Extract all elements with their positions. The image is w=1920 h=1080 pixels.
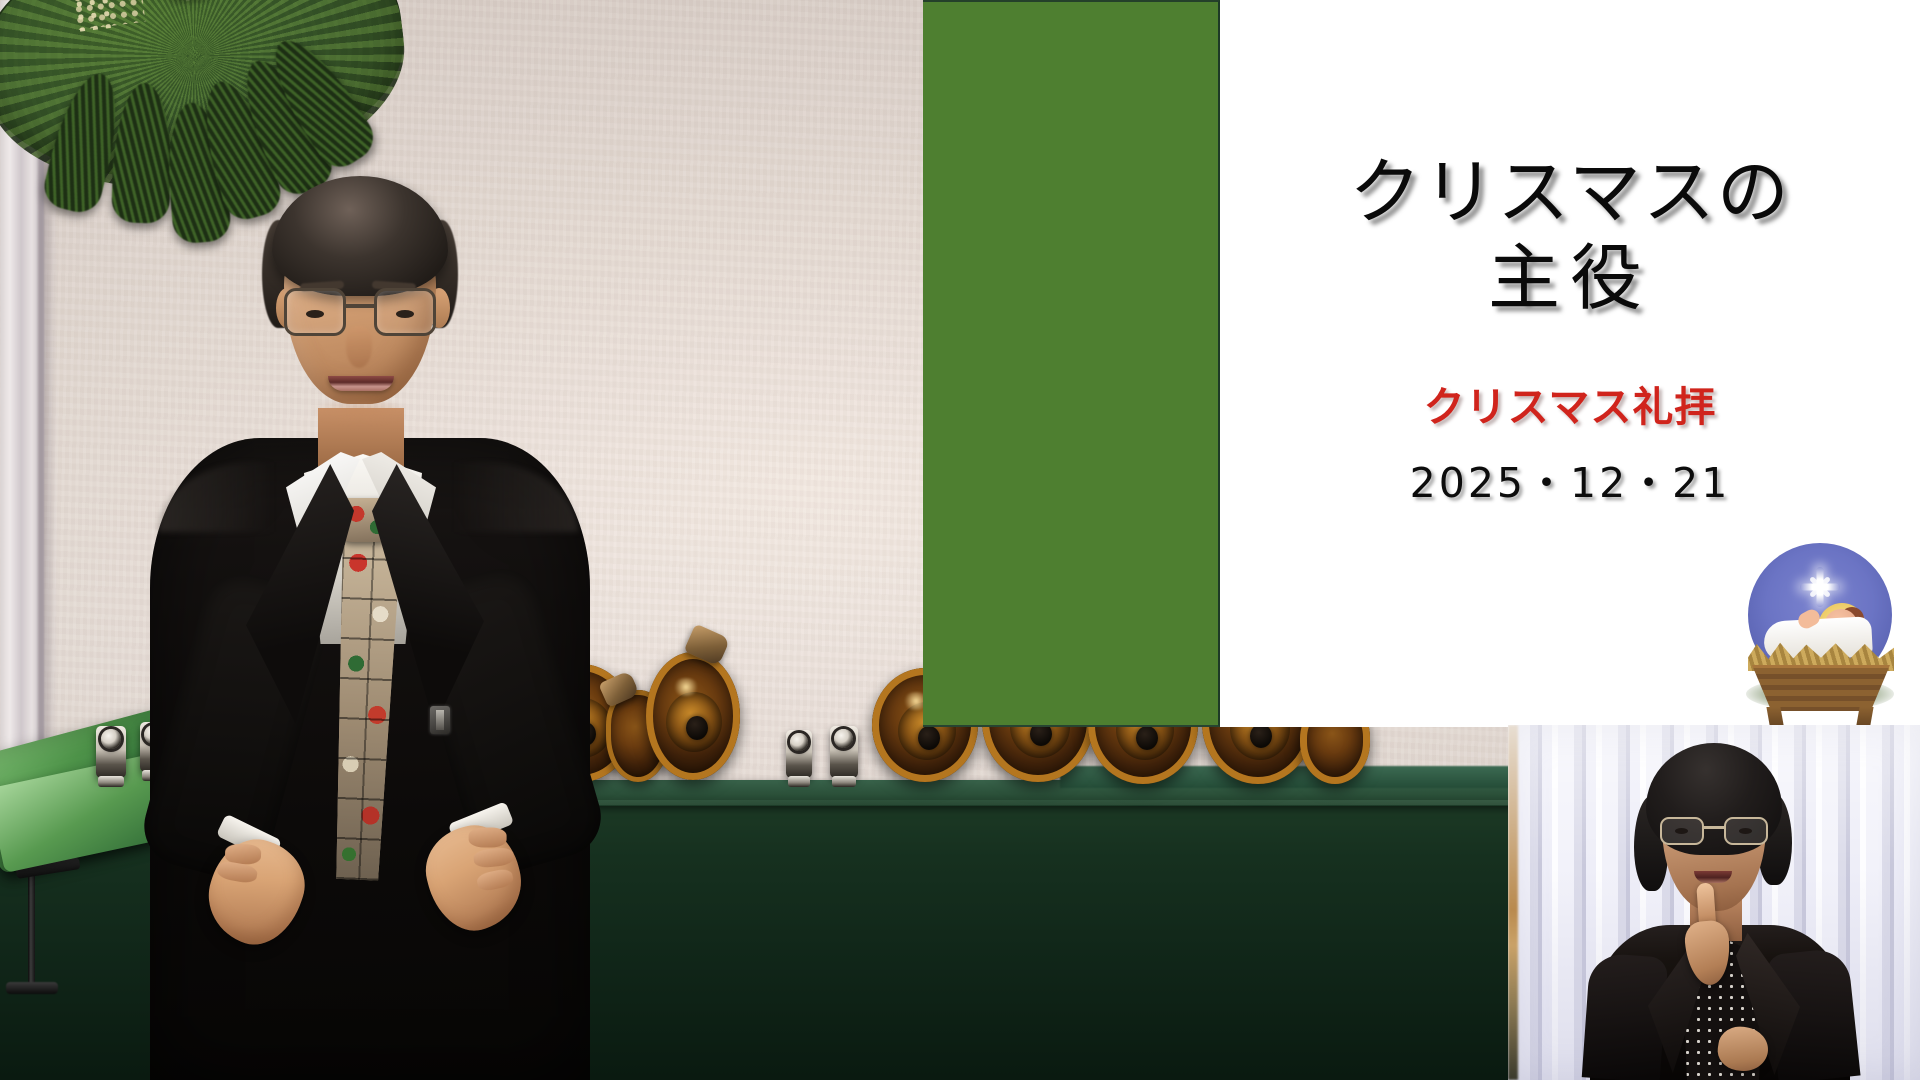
inset-left-edge-sliver [1508,725,1518,1080]
interpreter-figure [1590,743,1850,1080]
wreath-berries [72,0,116,32]
speaker-mouth [328,376,394,391]
chime-knob [101,729,121,749]
chime-knob [790,733,808,751]
manger-crib [1752,665,1890,711]
slide-title-line-1: クリスマスの [1349,150,1791,234]
slide-green-panel [923,0,1220,727]
bethlehem-star-icon [1800,567,1840,607]
lapel-microphone [430,706,450,734]
presentation-slide-overlay: クリスマスの 主役 クリスマス礼拝 2025・12・21 [923,0,1920,727]
speaker-figure [150,176,590,1080]
hand-chime [786,730,812,778]
manger-leg [1766,707,1783,725]
interpreter-mouth [1694,871,1732,883]
brass-handbell [646,652,740,780]
music-stand-base [6,982,58,994]
nativity-manger-icon [1740,541,1900,719]
sign-language-interpreter-inset [1508,725,1920,1080]
livestream-frame: クリスマスの 主役 クリスマス礼拝 2025・12・21 [0,0,1920,1080]
speaker-chin-shadow [312,398,408,424]
slide-subtitle: クリスマス礼拝 [1424,373,1717,433]
speaker-nose [346,326,372,368]
speaker-hair [272,176,448,296]
slide-title: クリスマスの 主役 [1349,150,1791,321]
hand-chime [96,726,126,778]
slide-date: 2025・12・21 [1410,449,1731,509]
chime-knob [834,729,853,748]
hand-chime [830,726,858,778]
slide-title-line-2: 主役 [1349,236,1791,322]
eyeglasses-icon [1660,817,1768,851]
